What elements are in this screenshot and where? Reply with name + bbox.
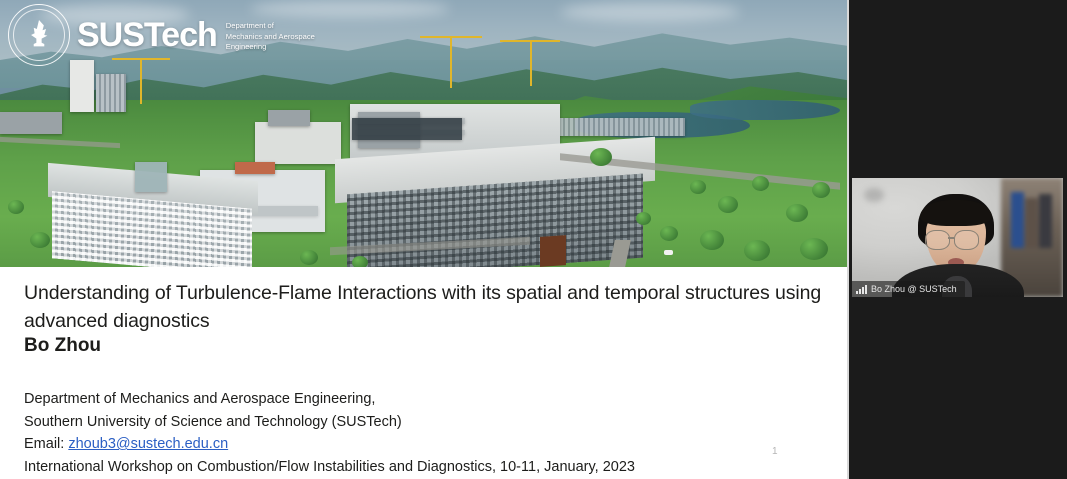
wordmark-main: SUS [77,16,144,54]
book [1025,198,1038,248]
tree [352,256,368,267]
tree [812,182,830,198]
department-line-2: Mechanics and Aerospace [226,32,315,43]
email-link[interactable]: zhoub3@sustech.edu.cn [68,436,228,452]
affiliation-line-1: Department of Mechanics and Aerospace En… [24,388,635,411]
tree [718,196,738,213]
tree [744,240,770,261]
tree [660,226,678,241]
distant-building [255,122,341,164]
email-label: Email: [24,436,64,452]
cloud [560,2,740,22]
flame-emblem-icon [28,20,50,50]
department-name: Department of Mechanics and Aerospace En… [226,21,315,53]
email-line: Email: zhoub3@sustech.edu.cn [24,433,635,456]
tree [8,200,24,214]
participant-name-label: Bo Zhou @ SUSTech [852,281,965,297]
tree [752,176,769,191]
hair-fringe [920,200,992,226]
slide-title: Understanding of Turbulence-Flame Intera… [24,280,839,335]
crane-jib [500,40,560,42]
department-line-3: Engineering [226,42,315,53]
slide-text-area: Understanding of Turbulence-Flame Intera… [0,267,849,479]
crane-mast [450,36,452,88]
glass-roof-building [352,118,462,140]
participant-name-text: Bo Zhou @ SUSTech [871,284,957,294]
campus-aerial-photo: SUSTech Department of Mechanics and Aero… [0,0,849,267]
tree [700,230,724,250]
eyeglasses-bridge [948,237,954,239]
signal-strength-icon [856,285,867,294]
presenter-name: Bo Zhou [24,335,101,357]
eyeglasses-left-lens [925,230,950,250]
tree [690,180,706,194]
tree [30,232,50,248]
crane-jib [420,36,482,38]
tree [300,250,318,265]
tree [590,148,612,166]
department-line-1: Department of [226,21,315,32]
background-artifact [864,188,884,202]
tree [636,212,651,225]
sustech-wordmark: SUSTech [77,18,217,52]
workshop-footer: International Workshop on Combustion/Flo… [24,456,635,479]
affiliation-line-2: Southern University of Science and Techn… [24,411,635,434]
wordmark-suffix: Tech [144,16,217,54]
tree [786,204,808,222]
rooftop-glass-box [135,162,167,192]
distant-building [96,74,126,112]
canopy-building [545,118,685,136]
meeting-stage: SUSTech Department of Mechanics and Aero… [0,0,1067,479]
tower-building [70,60,94,112]
crane-mast [530,40,532,86]
car [664,250,673,255]
building-entrance [540,235,566,267]
tree [800,238,828,260]
participant-video-tile[interactable]: Bo Zhou @ SUSTech [852,178,1063,297]
shared-slide[interactable]: SUSTech Department of Mechanics and Aero… [0,0,849,479]
water-feature [690,100,840,120]
sustech-logo-lockup: SUSTech Department of Mechanics and Aero… [8,4,315,66]
distant-building [0,112,62,134]
eyeglasses-right-lens [954,230,979,250]
affiliation-block: Department of Mechanics and Aerospace En… [24,388,635,478]
book [1039,194,1052,248]
university-seal-icon [8,4,70,66]
distant-building [268,110,310,126]
slide-page-number: 1 [772,446,778,457]
